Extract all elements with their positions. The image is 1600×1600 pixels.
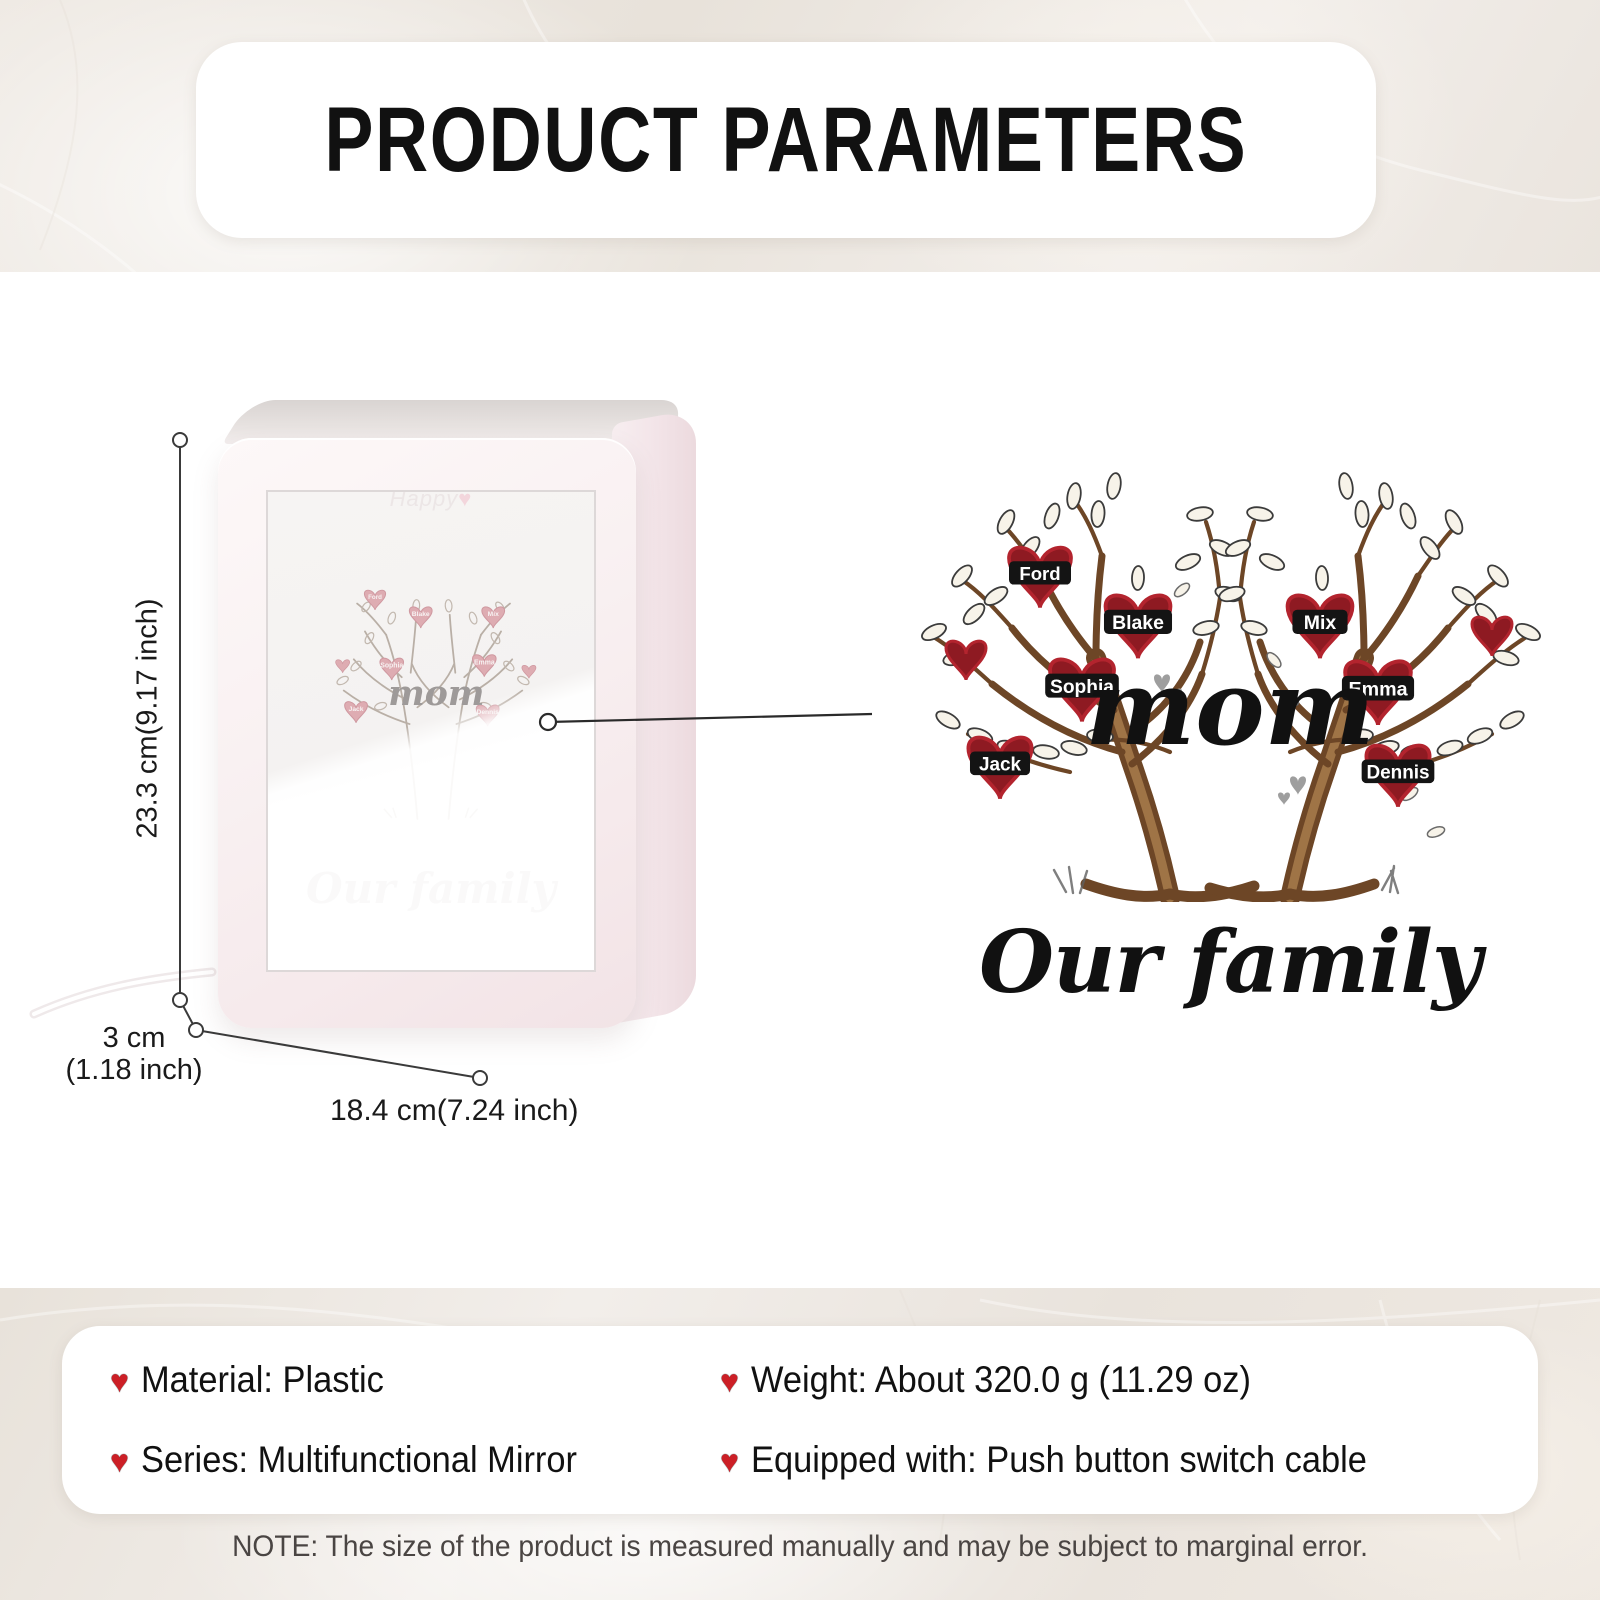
- dimension-height-label: 23.3 cm(9.17 inch): [132, 549, 165, 889]
- page-title-card: PRODUCT PARAMETERS: [196, 42, 1376, 238]
- dimension-depth-inch: (1.18 inch): [65, 1054, 202, 1086]
- artwork-stage: Ford Blake Mix Sophia Emma: [860, 272, 1600, 1288]
- heart-bullet-icon: ♥: [720, 1365, 739, 1397]
- heart-bullet-icon: ♥: [110, 1445, 129, 1477]
- svg-text:Ford: Ford: [1019, 563, 1060, 584]
- spec-label-series: Series: Multifunctional Mirror: [141, 1439, 577, 1481]
- family-tree-artwork: Ford Blake Mix Sophia Emma: [870, 452, 1590, 902]
- svg-text:Jack: Jack: [979, 754, 1022, 775]
- measurement-note: NOTE: The size of the product is measure…: [48, 1530, 1552, 1564]
- svg-text:Blake: Blake: [1112, 612, 1164, 634]
- spec-item-material: ♥ Material: Plastic: [110, 1359, 720, 1401]
- heart-bullet-icon: ♥: [720, 1445, 739, 1477]
- svg-text:Mix: Mix: [1304, 612, 1337, 634]
- spec-label-material: Material: Plastic: [141, 1359, 384, 1401]
- spec-item-equipped-with: ♥ Equipped with: Push button switch cabl…: [720, 1439, 1538, 1481]
- dimension-lines: [0, 272, 860, 1288]
- artwork-center-word: mom: [1085, 646, 1374, 769]
- dimension-width-label: 18.4 cm(7.24 inch): [330, 1094, 578, 1128]
- spec-label-weight: Weight: About 320.0 g (11.29 oz): [751, 1359, 1251, 1401]
- product-photo-stage: Happy♥: [0, 272, 860, 1288]
- specifications-card: ♥ Material: Plastic ♥ Weight: About 320.…: [62, 1326, 1538, 1514]
- dimension-depth-cm: 3 cm: [103, 1022, 166, 1054]
- dimension-depth-label: 3 cm (1.18 inch): [44, 1022, 224, 1087]
- page-title: PRODUCT PARAMETERS: [325, 88, 1248, 193]
- spec-item-weight: ♥ Weight: About 320.0 g (11.29 oz): [720, 1359, 1538, 1401]
- svg-text:Dennis: Dennis: [1366, 762, 1429, 783]
- artwork-script-caption: Our family: [860, 912, 1600, 1013]
- heart-bullet-icon: ♥: [110, 1365, 129, 1397]
- spec-item-series: ♥ Series: Multifunctional Mirror: [110, 1439, 720, 1481]
- spec-label-equipped: Equipped with: Push button switch cable: [751, 1439, 1367, 1481]
